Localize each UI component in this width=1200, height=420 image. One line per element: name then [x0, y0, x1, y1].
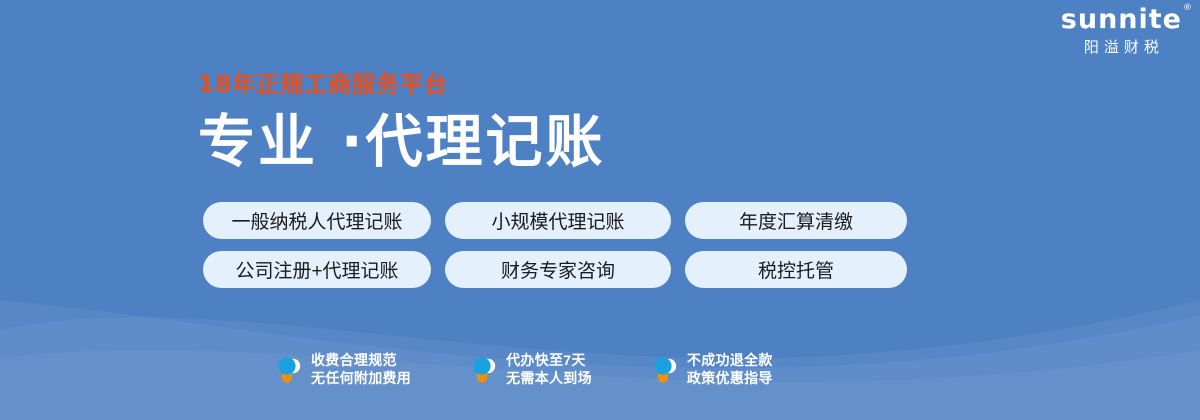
service-pill-small-scale[interactable]: 小规模代理记账 — [445, 202, 671, 239]
service-pill-tax-control-custody[interactable]: 税控托管 — [685, 251, 907, 288]
headline-block: 18年正规工商服务平台 专业 ·代理记账 — [198, 74, 606, 173]
headline-eyebrow: 18年正规工商服务平台 — [198, 74, 606, 97]
brand-logo: sunnite ® 阳溢财税 — [1061, 6, 1182, 55]
feature-line-1: 不成功退全款 — [687, 352, 773, 370]
service-pill-general-taxpayer[interactable]: 一般纳税人代理记账 — [203, 202, 431, 239]
feature-line-1: 代办快至7天 — [506, 352, 592, 370]
registered-trademark-icon: ® — [1183, 4, 1193, 13]
feature-text: 收费合理规范 无任何附加费用 — [311, 352, 411, 388]
feature-item: 收费合理规范 无任何附加费用 — [276, 352, 411, 388]
feature-text: 代办快至7天 无需本人到场 — [506, 352, 592, 388]
balloon-icon — [652, 355, 678, 385]
feature-line-2: 政策优惠指导 — [687, 370, 773, 388]
feature-line-1: 收费合理规范 — [311, 352, 411, 370]
service-pill-expert-consulting[interactable]: 财务专家咨询 — [445, 251, 671, 288]
feature-text: 不成功退全款 政策优惠指导 — [687, 352, 773, 388]
feature-item: 代办快至7天 无需本人到场 — [471, 352, 592, 388]
service-pill-annual-settlement[interactable]: 年度汇算清缴 — [685, 202, 907, 239]
service-pill-company-registration[interactable]: 公司注册+代理记账 — [203, 251, 431, 288]
feature-item: 不成功退全款 政策优惠指导 — [652, 352, 773, 388]
service-pill-grid: 一般纳税人代理记账 小规模代理记账 年度汇算清缴 公司注册+代理记账 财务专家咨… — [203, 202, 907, 288]
feature-line-2: 无任何附加费用 — [311, 370, 411, 388]
page-title: 专业 ·代理记账 — [198, 113, 606, 173]
feature-strip: 收费合理规范 无任何附加费用 代办快至7天 无需本人到场 — [276, 352, 773, 388]
promo-banner: sunnite ® 阳溢财税 18年正规工商服务平台 专业 ·代理记账 一般纳税… — [0, 0, 1200, 420]
logo-wordmark: sunnite ® — [1061, 6, 1182, 33]
balloon-icon — [276, 355, 302, 385]
balloon-icon — [471, 355, 497, 385]
logo-subtitle: 阳溢财税 — [1061, 40, 1182, 55]
logo-wordmark-text: sunnite — [1061, 4, 1182, 35]
feature-line-2: 无需本人到场 — [506, 370, 592, 388]
